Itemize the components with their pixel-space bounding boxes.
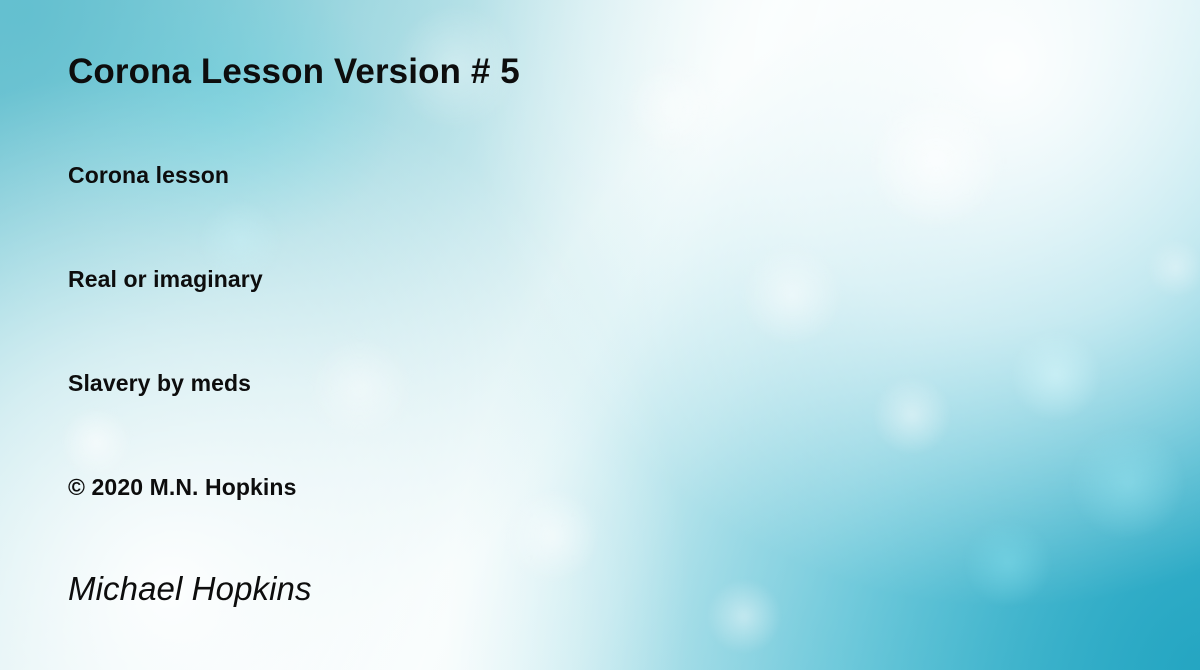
subtitle-line-corona-lesson: Corona lesson [68, 160, 229, 190]
copyright-notice: © 2020 M.N. Hopkins [68, 472, 296, 502]
subtitle-line-real-or-imaginary: Real or imaginary [68, 264, 263, 294]
subtitle-line-slavery-by-meds: Slavery by meds [68, 368, 251, 398]
author-byline: Michael Hopkins [68, 568, 312, 610]
title-slide: Corona Lesson Version # 5 Corona lesson … [0, 0, 1200, 670]
page-title: Corona Lesson Version # 5 [68, 50, 520, 94]
slide-content: Corona Lesson Version # 5 Corona lesson … [0, 0, 1200, 670]
